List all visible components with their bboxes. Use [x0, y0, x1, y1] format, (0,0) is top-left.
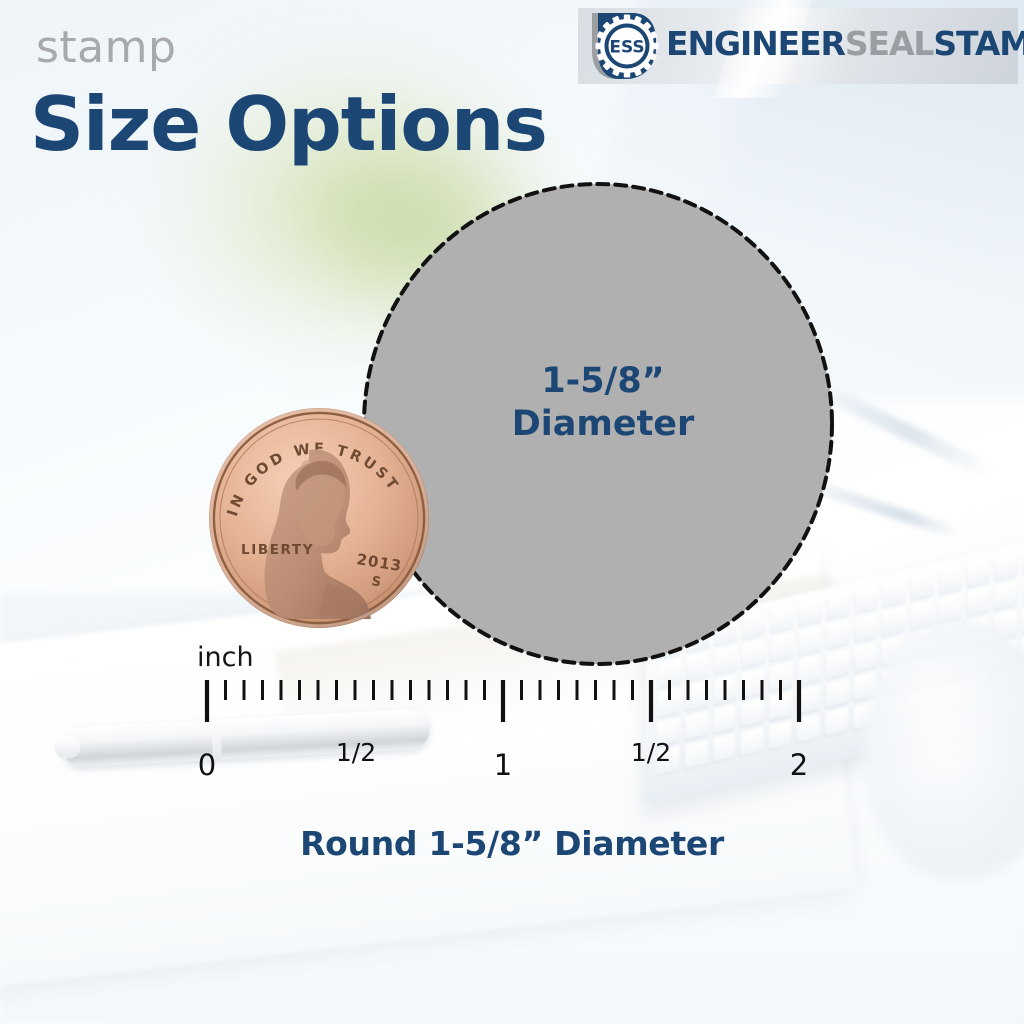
brand-name-part3: STAMPS — [933, 24, 1024, 63]
size-value: 1-5/8” — [358, 360, 848, 403]
coin-liberty: LIBERTY — [241, 542, 314, 558]
ess-monogram: ESS — [609, 38, 644, 58]
ess-gear-shield-icon: ESS — [586, 10, 660, 82]
brand-logo[interactable]: ESS ENGINEERSEALSTAMPS.COM — [578, 8, 1018, 84]
page-eyebrow: stamp — [36, 22, 176, 73]
brand-wordmark: ENGINEERSEALSTAMPS.COM — [666, 24, 1024, 63]
us-penny-image: IN GOD WE TRUST LIBERTY 2013 S — [205, 404, 433, 632]
ruler-label: 0 — [198, 748, 216, 782]
ruler-label: 1/2 — [631, 738, 671, 767]
size-options-infographic: stamp Size Options — [0, 0, 1024, 1024]
ruler-label: 2 — [790, 748, 808, 782]
brand-name-part2: SEAL — [845, 24, 933, 63]
page-title: Size Options — [30, 80, 547, 168]
brand-name-part1: ENGINEER — [666, 24, 845, 63]
ruler-unit-label: inch — [197, 642, 254, 673]
size-caption: Round 1-5/8” Diameter — [0, 824, 1024, 863]
ruler-label: 1/2 — [336, 738, 376, 767]
ruler-label: 1 — [494, 748, 512, 782]
